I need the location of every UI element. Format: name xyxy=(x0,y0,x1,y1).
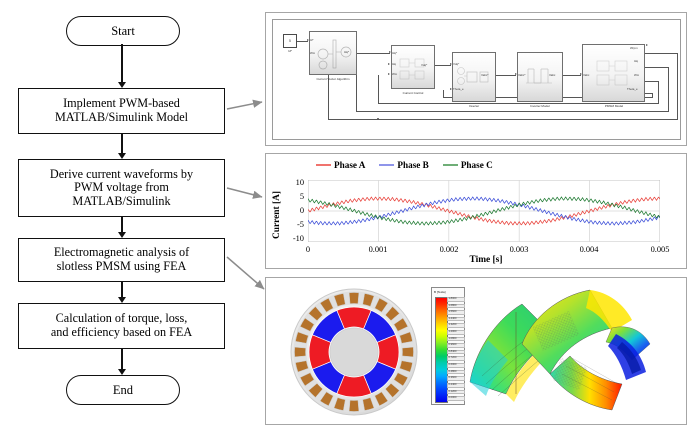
flow-step-2-line-3: MATLAB/Simulink xyxy=(50,195,193,209)
simulink-port-cva-in2: Wm xyxy=(310,51,315,55)
simulink-block-5-label: PMSM Model xyxy=(585,104,644,108)
simulink-feedback-wire xyxy=(328,119,678,120)
simulink-port-invm-out: Vabc xyxy=(549,73,555,77)
colorbar-tick: 1.6800 xyxy=(447,304,465,309)
colorbar-tick: 1.0800 xyxy=(447,337,465,342)
simulink-block-1-label: Current Vector Algorithm xyxy=(302,77,365,81)
colorbar-tick: 1.5600 xyxy=(447,310,465,315)
flow-connector-4 xyxy=(121,282,123,298)
chart-ytick-10: 10 xyxy=(290,178,304,187)
flow-start-terminator[interactable]: Start xyxy=(66,16,180,46)
flow-step-4-line-2: and efficiency based on FEA xyxy=(51,326,192,340)
rotor-cross-section[interactable] xyxy=(288,286,420,418)
chart-ytick-m5: -5 xyxy=(288,220,304,229)
simulink-canvas: 5 Id* Id* Wm Idq* Current Vector Algorit… xyxy=(272,19,681,140)
legend-label-phase-c: Phase C xyxy=(461,160,493,170)
simulink-feedback-wire xyxy=(677,53,678,120)
legend-label-phase-a: Phase A xyxy=(334,160,365,170)
colorbar-tick: 0.0000 xyxy=(447,396,465,401)
colorbar-tick: 0.9600 xyxy=(447,343,465,348)
chart-xtick-0003: 0.003 xyxy=(503,245,535,254)
legend-item-phase-a: Phase A xyxy=(316,160,365,170)
simulink-port-cc-in3: Wm xyxy=(392,72,397,76)
colorbar-tick: 0.7200 xyxy=(447,356,465,361)
colorbar-tick: 0.2400 xyxy=(447,383,465,388)
colorbar-tick-labels: 1.8000 1.6800 1.5600 1.4400 1.3200 1.200… xyxy=(447,297,465,401)
chart-ytick-m10: -10 xyxy=(284,234,304,243)
simulink-constant-value: 5 xyxy=(289,39,291,43)
simulink-port-inv-in1: Vdq* xyxy=(453,62,459,66)
block-inner-graphic xyxy=(392,46,436,90)
simulink-feedback-wire xyxy=(378,75,379,103)
simulink-block-inverter[interactable] xyxy=(452,52,496,102)
simulink-constant-block[interactable]: 5 xyxy=(283,34,297,48)
chart-xtick-0001: 0.001 xyxy=(362,245,394,254)
rotor-shaft xyxy=(330,328,378,376)
legend-swatch-phase-b xyxy=(379,164,394,166)
block-inner-graphic xyxy=(310,32,358,76)
chart-xtick-0004: 0.004 xyxy=(573,245,605,254)
simulink-port-pmsm-in: Vabc xyxy=(583,73,589,77)
simulink-port-inv-in2: Theta_e xyxy=(453,87,464,91)
simulink-block-3-label: Inverter xyxy=(452,104,495,108)
chart-plot-area[interactable] xyxy=(308,180,660,242)
process-flowchart: Start Implement PWM-based MATLAB/Simulin… xyxy=(0,0,258,435)
flow-step-2[interactable]: Derive current waveforms by PWM voltage … xyxy=(18,159,225,217)
block-inner-graphic xyxy=(518,53,564,103)
legend-label-phase-b: Phase B xyxy=(397,160,428,170)
legend-item-phase-b: Phase B xyxy=(379,160,428,170)
colorbar-tick: 0.8400 xyxy=(447,350,465,355)
flow-end-terminator[interactable]: End xyxy=(66,375,180,405)
simulink-port-pmsm-out1: Wrpm xyxy=(630,46,638,50)
flow-start-label: Start xyxy=(111,24,135,38)
colorbar-tick: 1.2000 xyxy=(447,330,465,335)
simulink-block-4-label: Inverter Model xyxy=(516,104,565,108)
simulink-block-inverter-model[interactable] xyxy=(517,52,563,102)
simulink-block-current-control[interactable] xyxy=(391,45,435,89)
simulink-arrowhead xyxy=(388,73,390,75)
simulink-port-cva-out: Idq* xyxy=(344,50,349,54)
simulink-port-pmsm-out2: Idq xyxy=(634,59,638,63)
block-inner-graphic xyxy=(453,53,497,103)
colorbar-tick: 0.4800 xyxy=(447,370,465,375)
chart-ytick-5: 5 xyxy=(290,192,304,201)
simulink-output-arrowhead xyxy=(646,44,648,46)
legend-item-phase-c: Phase C xyxy=(443,160,493,170)
simulink-port-invm-in: Vabc* xyxy=(518,73,526,77)
simulink-port-cc-out: Vdq* xyxy=(421,63,427,67)
simulink-port-pmsm-out3: Wm xyxy=(634,73,639,77)
simulink-block-current-vector-algorithm[interactable] xyxy=(309,31,357,75)
simulink-feedback-wire xyxy=(645,81,659,82)
flow-connector-3 xyxy=(121,217,123,233)
simulink-port-cc-in2: Idq xyxy=(392,62,396,66)
simulink-feedback-wire xyxy=(658,81,659,103)
colorbar-tick: 1.3200 xyxy=(447,323,465,328)
simulink-block-2-label: Current Control xyxy=(386,91,441,95)
stator-winding-segment xyxy=(402,347,413,357)
flow-step-3-line-1: Electromagnetic analysis of xyxy=(54,246,189,260)
chart-xtick-0002: 0.002 xyxy=(433,245,465,254)
colorbar-tick: 1.8000 xyxy=(447,297,465,302)
stator-winding-segment xyxy=(295,347,306,357)
stator-winding-segment xyxy=(349,293,359,304)
flux-density-colorbar[interactable]: B [Tesla] 1.8000 1.6800 1.5600 1.4400 1.… xyxy=(431,287,465,405)
flow-step-4[interactable]: Calculation of torque, loss, and efficie… xyxy=(18,303,225,349)
simulink-model-panel[interactable]: 5 Id* Id* Wm Idq* Current Vector Algorit… xyxy=(265,12,687,146)
simulink-junction-dot xyxy=(377,118,379,120)
stator-winding-segment xyxy=(349,400,359,411)
current-waveform-panel[interactable]: Phase A Phase B Phase C Current [A] 10 5… xyxy=(265,153,687,269)
simulink-feedback-wire xyxy=(645,53,678,54)
simulink-feedback-wire xyxy=(443,90,444,97)
flow-step-1-line-2: MATLAB/Simulink Model xyxy=(55,111,188,125)
chart-xtick-0005: 0.005 xyxy=(644,245,676,254)
flow-connector-1 xyxy=(121,44,123,83)
chart-xlabel: Time [s] xyxy=(416,255,556,265)
simulink-port-pmsm-out4: Theta_e xyxy=(627,87,638,91)
flow-step-3[interactable]: Electromagnetic analysis of slotless PMS… xyxy=(18,238,225,282)
colorbar-tick: 0.3600 xyxy=(447,376,465,381)
colorbar-tick: 1.4400 xyxy=(447,317,465,322)
flow-step-1-line-1: Implement PWM-based xyxy=(55,97,188,111)
simulink-feedback-wire xyxy=(645,67,669,68)
flow-step-3-line-2: slotless PMSM using FEA xyxy=(54,260,189,274)
colorbar-tick: 0.6000 xyxy=(447,363,465,368)
chart-legend: Phase A Phase B Phase C xyxy=(316,160,493,170)
chart-ytick-0: 0 xyxy=(290,206,304,215)
simulink-port-cva-in1: Id* xyxy=(310,38,314,42)
flow-connector-5 xyxy=(121,349,123,370)
flow-end-label: End xyxy=(113,383,133,397)
simulink-feedback-wire xyxy=(356,111,669,112)
simulink-constant-label: Id* xyxy=(283,49,297,53)
contour-stator-sector xyxy=(522,290,650,410)
simulink-port-inv-out: Vabc* xyxy=(481,73,489,77)
flow-step-1[interactable]: Implement PWM-based MATLAB/Simulink Mode… xyxy=(18,88,225,134)
simulink-arrowhead xyxy=(388,63,390,65)
chart-ylabel: Current [A] xyxy=(272,180,282,250)
legend-swatch-phase-c xyxy=(443,164,458,166)
fea-results-panel[interactable]: B [Tesla] 1.8000 1.6800 1.5600 1.4400 1.… xyxy=(265,277,687,425)
flow-step-2-line-1: Derive current waveforms by xyxy=(50,168,193,182)
flow-connector-2 xyxy=(121,134,123,154)
chart-xtick-0: 0 xyxy=(299,245,317,254)
simulink-port-cc-in1: Idq* xyxy=(392,51,397,55)
simulink-wire xyxy=(357,53,390,54)
flow-step-4-line-1: Calculation of torque, loss, xyxy=(51,312,192,326)
colorbar-tick: 0.1200 xyxy=(447,390,465,395)
simulink-feedback-wire xyxy=(668,67,669,112)
legend-swatch-phase-a xyxy=(316,164,331,166)
flow-step-2-line-2: PWM voltage from xyxy=(50,181,193,195)
flux-density-contour[interactable] xyxy=(466,284,676,420)
colorbar-title: B [Tesla] xyxy=(434,290,446,294)
